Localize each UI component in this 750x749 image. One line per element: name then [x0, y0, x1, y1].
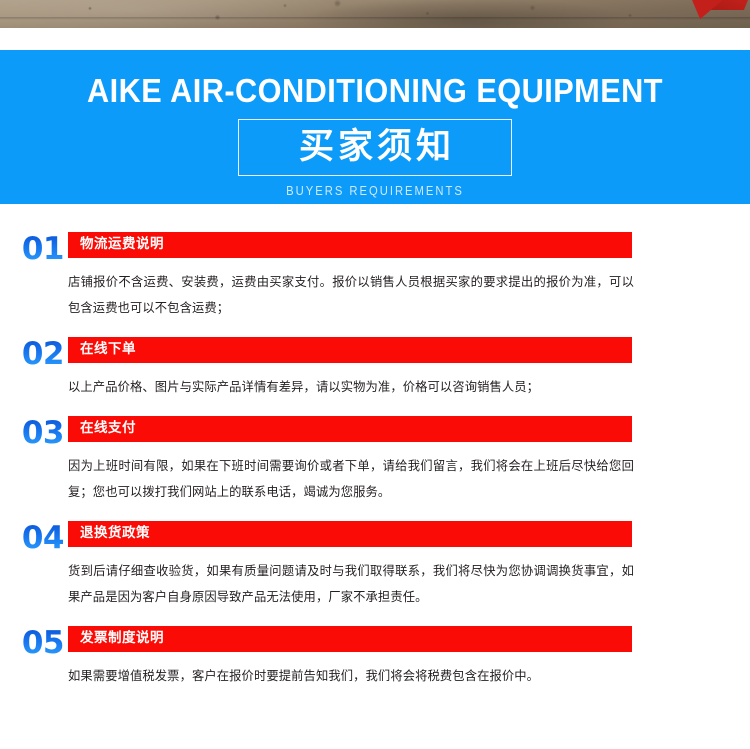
- section-heading-label: 退换货政策: [80, 527, 150, 541]
- section-body-text: 如果需要增值税发票，客户在报价时要提前告知我们，我们将会将税费包含在报价中。: [68, 663, 634, 689]
- section-heading-label: 物流运费说明: [80, 238, 164, 252]
- section-heading-label: 发票制度说明: [80, 632, 164, 646]
- buyer-requirements-banner: AIKE AIR-CONDITIONING EQUIPMENT 买家须知 BUY…: [0, 50, 750, 204]
- banner-subtitle: BUYERS REQUIREMENTS: [38, 184, 713, 198]
- requirement-section: 01 物流运费说明 店铺报价不含运费、安装费，运费由买家支付。报价以销售人员根据…: [0, 232, 750, 321]
- requirement-section: 05 发票制度说明 如果需要增值税发票，客户在报价时要提前告知我们，我们将会将税…: [0, 626, 750, 689]
- top-photo-strip: [0, 0, 750, 28]
- banner-title: AIKE AIR-CONDITIONING EQUIPMENT: [26, 74, 724, 107]
- section-body-text: 货到后请仔细查收验货，如果有质量问题请及时与我们取得联系，我们将尽快为您协调调换…: [68, 558, 634, 610]
- section-heading-label: 在线下单: [80, 343, 136, 357]
- section-heading-bar: 物流运费说明: [68, 232, 632, 258]
- banner-title-box: 买家须知: [238, 119, 512, 176]
- requirement-section: 03 在线支付 因为上班时间有限，如果在下班时间需要询价或者下单，请给我们留言，…: [0, 416, 750, 505]
- section-heading-bar: 发票制度说明: [68, 626, 632, 652]
- section-number: 01: [0, 232, 64, 266]
- section-body-text: 以上产品价格、图片与实际产品详情有差异，请以实物为准，价格可以咨询销售人员；: [68, 374, 634, 400]
- section-number: 04: [0, 521, 64, 555]
- requirement-section: 02 在线下单 以上产品价格、图片与实际产品详情有差异，请以实物为准，价格可以咨…: [0, 337, 750, 400]
- section-heading-bar: 退换货政策: [68, 521, 632, 547]
- section-number: 03: [0, 416, 64, 450]
- requirements-list: 01 物流运费说明 店铺报价不含运费、安装费，运费由买家支付。报价以销售人员根据…: [0, 204, 750, 689]
- section-heading-bar: 在线下单: [68, 337, 632, 363]
- section-heading-label: 在线支付: [80, 422, 136, 436]
- section-heading-bar: 在线支付: [68, 416, 632, 442]
- requirement-section: 04 退换货政策 货到后请仔细查收验货，如果有质量问题请及时与我们取得联系，我们…: [0, 521, 750, 610]
- floor-speckle-texture: [0, 0, 750, 28]
- white-spacer: [0, 28, 750, 50]
- banner-box-title: 买家须知: [295, 130, 455, 165]
- floor-seam-line: [0, 17, 750, 20]
- section-number: 05: [0, 626, 64, 660]
- section-number: 02: [0, 337, 64, 371]
- section-body-text: 店铺报价不含运费、安装费，运费由买家支付。报价以销售人员根据买家的要求提出的报价…: [68, 269, 634, 321]
- section-body-text: 因为上班时间有限，如果在下班时间需要询价或者下单，请给我们留言，我们将会在上班后…: [68, 453, 634, 505]
